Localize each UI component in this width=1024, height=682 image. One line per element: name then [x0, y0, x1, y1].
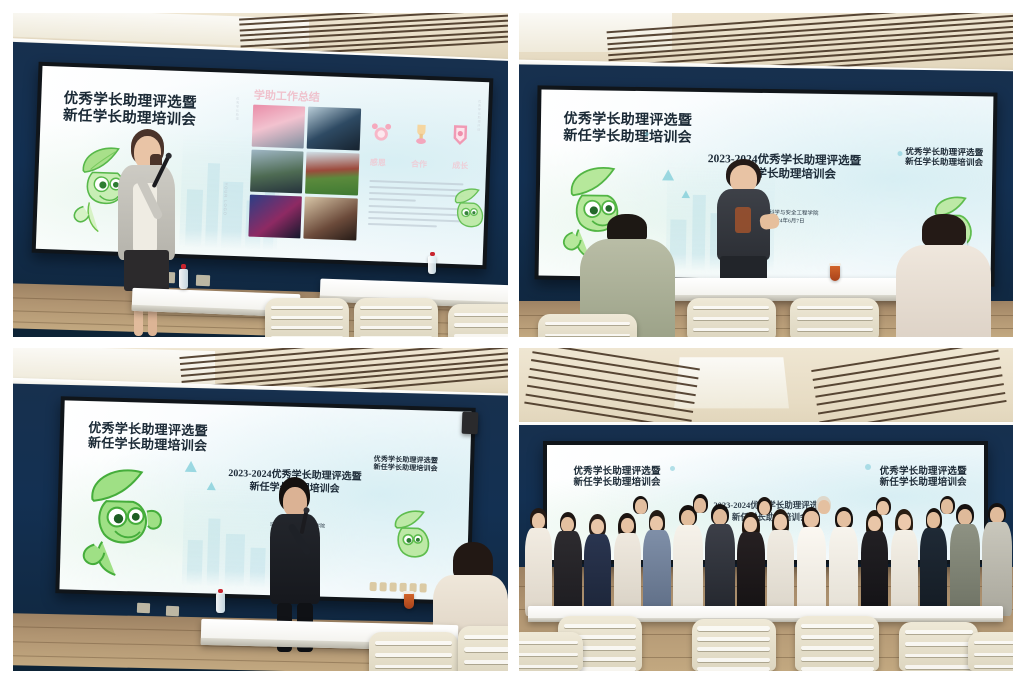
slide-title-right: 优秀学长助理评选暨 新任学长助理培训会: [880, 466, 967, 488]
slide-title-line1: 优秀学长助理评选暨: [573, 466, 660, 477]
group-member-back-row: [687, 494, 714, 543]
slide-title-line2: 新任学长助理培训会: [563, 127, 692, 145]
alarm-clock-icon: [371, 121, 392, 149]
meeting-room-scene-4: 优秀学长助理评选暨 新任学长助理培训会 优秀学长助理评选暨 新任学长助理培训会 …: [519, 348, 1014, 672]
presentation-screen-frame: 优秀学长助理评选暨 新任学长助理培训会: [32, 61, 494, 268]
photo-thumb: [251, 149, 305, 193]
photo-panel-top-right: 优秀学长助理评选暨 新任学长助理培训会: [519, 13, 1014, 337]
photo-thumb: [307, 106, 361, 150]
chair: [538, 314, 637, 337]
photo-wall-grid: [249, 104, 361, 239]
slide-title: 优秀学长助理评选暨 新任学长助理培训会: [563, 110, 692, 144]
mascot-leaf-character: [75, 464, 176, 584]
group-member: [553, 512, 583, 616]
award-icon-row: [371, 120, 470, 153]
presentation-screen: 优秀学长助理评选暨 新任学长助理培训会: [36, 65, 489, 264]
slide-title-line1: 优秀学长助理评选暨: [563, 110, 692, 128]
wall-outlet: [136, 603, 149, 613]
group-member-back-row: [810, 496, 837, 545]
chair: [790, 298, 879, 337]
wall-speaker: [461, 412, 478, 435]
skirt: [124, 250, 168, 291]
section-heading: 学助工作总结: [254, 86, 321, 104]
keyword-item: 感恩: [370, 156, 386, 168]
photo-panel-bottom-left: 优秀学长助理评选暨 新任学长助理培训会: [13, 348, 508, 672]
slide-title-line2: 新任学长助理培训会: [905, 157, 983, 168]
badge-icon-row: [369, 582, 426, 593]
hair: [607, 214, 647, 242]
meeting-room-scene-2: 优秀学长助理评选暨 新任学长助理培训会: [519, 13, 1014, 337]
shirt-graphic: [735, 207, 751, 233]
group-member-back-row: [870, 497, 897, 546]
slide-title: 优秀学长助理评选暨 新任学长助理培训会: [87, 420, 207, 453]
meeting-room-scene-1: 优秀学长助理评选暨 新任学长助理培训会: [13, 13, 508, 337]
extended-arm: [759, 212, 780, 229]
mascot-leaf-character-right: [448, 165, 490, 247]
group-member-back-row: [751, 497, 778, 546]
group-member: [523, 508, 553, 616]
group-member: [981, 503, 1013, 616]
drink-cup: [830, 265, 840, 281]
photo-thumb: [304, 196, 358, 240]
slide-title-line2: 新任学长助理培训会: [880, 477, 967, 488]
vertical-decorative-text: 优秀学长助理: [235, 96, 240, 120]
vertical-side-text: 优秀学长助理评选: [477, 100, 482, 132]
slide-title: 优秀学长助理评选暨 新任学长助理培训会: [63, 90, 197, 128]
audience-member-seated-right: [894, 214, 993, 337]
chair: [692, 619, 776, 671]
wall-outlet: [166, 606, 179, 616]
mascot-leaf-character-right: [385, 497, 436, 582]
photo-thumb: [252, 104, 306, 148]
wall-outlet: [196, 275, 210, 286]
chair: [458, 626, 507, 671]
group-member: [583, 514, 613, 616]
chair: [448, 304, 507, 336]
chair: [795, 616, 879, 671]
chair: [968, 632, 1013, 671]
badge-shield-icon: [451, 123, 470, 153]
chair: [687, 298, 776, 337]
chair: [899, 622, 978, 671]
photo-thumb: [306, 151, 360, 195]
slide-title-line1: 优秀学长助理评选暨: [880, 466, 967, 477]
group-photo-people-row: [519, 493, 1014, 616]
hair: [922, 214, 966, 248]
meeting-room-scene-3: 优秀学长助理评选暨 新任学长助理培训会: [13, 348, 508, 672]
group-member-back-row: [934, 496, 961, 545]
water-bottle: [179, 269, 188, 289]
group-member-back-row: [627, 496, 654, 545]
torso: [896, 245, 991, 337]
chair: [265, 298, 349, 337]
slide-title-right: 优秀学长助理评选暨 新任学长助理培训会: [905, 147, 983, 168]
trophy-icon: [412, 121, 431, 151]
drink-cup: [404, 593, 414, 609]
chair: [354, 298, 438, 337]
chair: [369, 632, 458, 671]
water-bottle: [428, 256, 436, 274]
photo-panel-top-left: 优秀学长助理评选暨 新任学长助理培训会: [13, 13, 508, 337]
slide-title: 优秀学长助理评选暨 新任学长助理培训会: [573, 466, 660, 488]
keyword-item: 合作: [411, 158, 427, 170]
photo-panel-bottom-right: 优秀学长助理评选暨 新任学长助理培训会 优秀学长助理评选暨 新任学长助理培训会 …: [519, 348, 1014, 672]
slide-title-line2: 新任学长助理培训会: [573, 477, 660, 488]
collage-grid: 优秀学长助理评选暨 新任学长助理培训会: [13, 13, 1013, 671]
chair: [519, 632, 583, 671]
water-bottle: [216, 593, 225, 613]
slide-title-line2: 新任学长助理培训会: [87, 436, 207, 454]
photo-collage: 优秀学长助理评选暨 新任学长助理培训会: [0, 0, 1024, 682]
photo-thumb: [249, 194, 303, 238]
slide-title-right: 优秀学长助理评选暨 新任学长助理培训会: [373, 457, 438, 475]
